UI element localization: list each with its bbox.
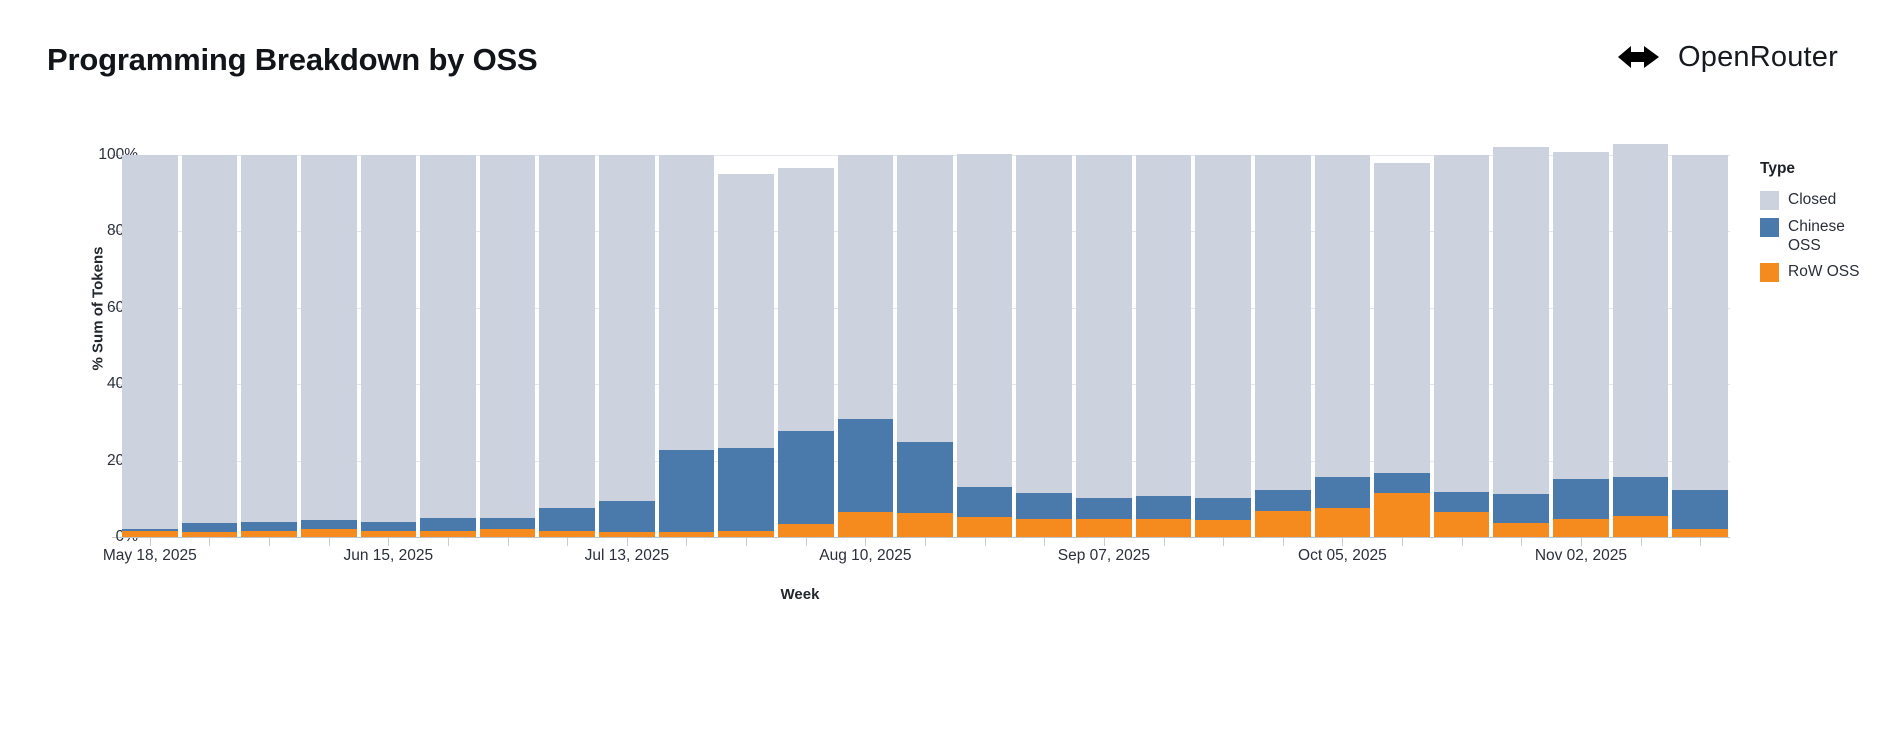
x-tick-mark <box>1581 538 1582 546</box>
bar-segment[interactable] <box>957 517 1013 537</box>
bar-segment[interactable] <box>778 431 834 524</box>
bar-segment[interactable] <box>1434 512 1490 537</box>
bar-segment[interactable] <box>1434 155 1490 492</box>
x-tick-mark <box>388 538 389 546</box>
x-tick-mark <box>985 538 986 546</box>
x-tick-mark <box>209 538 210 546</box>
bar-segment[interactable] <box>1016 519 1072 537</box>
bar-segment[interactable] <box>1374 493 1430 537</box>
bar-segment[interactable] <box>241 155 297 522</box>
bar-segment[interactable] <box>778 168 834 432</box>
bar-segment[interactable] <box>1315 477 1371 508</box>
x-tick-mark <box>1462 538 1463 546</box>
x-tick-mark <box>1044 538 1045 546</box>
bar-column[interactable] <box>480 155 536 537</box>
bar-column[interactable] <box>957 155 1013 537</box>
legend-title: Type <box>1760 160 1878 178</box>
x-tick-label: Sep 07, 2025 <box>1058 547 1150 565</box>
bar-column[interactable] <box>1434 155 1490 537</box>
legend-item-label: RoW OSS <box>1788 262 1859 281</box>
bar-column[interactable] <box>1136 155 1192 537</box>
bar-segment[interactable] <box>1672 490 1728 530</box>
bar-segment[interactable] <box>1076 498 1132 519</box>
bar-segment[interactable] <box>838 512 894 537</box>
x-tick-mark <box>1700 538 1701 546</box>
x-tick-mark <box>1342 538 1343 546</box>
bar-segment[interactable] <box>301 155 357 520</box>
x-tick-mark <box>925 538 926 546</box>
bar-segment[interactable] <box>1672 155 1728 490</box>
bar-segment[interactable] <box>1613 144 1669 477</box>
x-tick-mark <box>150 538 151 546</box>
bar-segment[interactable] <box>122 529 178 531</box>
bar-segment[interactable] <box>599 501 655 532</box>
bar-segment[interactable] <box>1136 496 1192 520</box>
x-tick-mark <box>1521 538 1522 546</box>
bar-column[interactable] <box>122 155 178 537</box>
bar-column[interactable] <box>1076 155 1132 537</box>
bar-segment[interactable] <box>1195 155 1251 498</box>
bar-column[interactable] <box>420 155 476 537</box>
bar-segment[interactable] <box>1553 152 1609 478</box>
bar-column[interactable] <box>1613 155 1669 537</box>
legend-swatch <box>1760 218 1779 237</box>
x-tick-mark <box>567 538 568 546</box>
bar-segment[interactable] <box>1613 516 1669 537</box>
bar-segment[interactable] <box>1076 519 1132 537</box>
bar-segment[interactable] <box>1195 498 1251 520</box>
x-tick-mark <box>627 538 628 546</box>
legend-item[interactable]: Closed <box>1760 190 1878 210</box>
bar-segment[interactable] <box>480 155 536 518</box>
bar-segment[interactable] <box>838 419 894 512</box>
bar-column[interactable] <box>301 155 357 537</box>
bar-column[interactable] <box>897 155 953 537</box>
bar-segment[interactable] <box>361 522 417 530</box>
x-tick-mark <box>1402 538 1403 546</box>
x-tick-mark <box>269 538 270 546</box>
x-tick-mark <box>746 538 747 546</box>
bar-segment[interactable] <box>122 155 178 529</box>
bar-segment[interactable] <box>1255 155 1311 490</box>
bar-segment[interactable] <box>718 174 774 448</box>
bar-segment[interactable] <box>1136 155 1192 496</box>
bar-column[interactable] <box>1672 155 1728 537</box>
bar-segment[interactable] <box>1255 511 1311 537</box>
bar-segment[interactable] <box>420 155 476 518</box>
bar-segment[interactable] <box>539 155 595 508</box>
bar-segment[interactable] <box>1195 520 1251 537</box>
x-tick-mark <box>806 538 807 546</box>
bar-column[interactable] <box>599 155 655 537</box>
x-tick-mark <box>1164 538 1165 546</box>
legend-swatch <box>1760 191 1779 210</box>
bar-segment[interactable] <box>182 523 238 532</box>
x-tick-mark <box>1223 538 1224 546</box>
y-axis-title: % Sum of Tokens <box>90 199 107 419</box>
bar-column[interactable] <box>718 155 774 537</box>
bar-segment[interactable] <box>1493 147 1549 494</box>
x-tick-mark <box>686 538 687 546</box>
bar-segment[interactable] <box>1016 493 1072 519</box>
bar-column[interactable] <box>1553 155 1609 537</box>
bar-segment[interactable] <box>1434 492 1490 512</box>
bar-column[interactable] <box>1255 155 1311 537</box>
bar-column[interactable] <box>182 155 238 537</box>
bar-segment[interactable] <box>241 531 297 537</box>
bar-segment[interactable] <box>1315 155 1371 477</box>
bar-segment[interactable] <box>1553 519 1609 537</box>
bar-column[interactable] <box>1374 155 1430 537</box>
bar-segment[interactable] <box>539 508 595 531</box>
bar-segment[interactable] <box>1255 490 1311 511</box>
bar-segment[interactable] <box>957 487 1013 517</box>
bar-segment[interactable] <box>599 155 655 501</box>
bar-segment[interactable] <box>718 448 774 531</box>
bar-segment[interactable] <box>420 518 476 531</box>
bar-segment[interactable] <box>897 513 953 537</box>
bar-segment[interactable] <box>1374 163 1430 473</box>
x-tick-label: Nov 02, 2025 <box>1535 547 1627 565</box>
x-tick-label: Aug 10, 2025 <box>819 547 911 565</box>
bar-column[interactable] <box>241 155 297 537</box>
bar-column[interactable] <box>361 155 417 537</box>
bar-segment[interactable] <box>659 155 715 450</box>
bar-column[interactable] <box>838 155 894 537</box>
plot-area <box>120 155 1730 537</box>
legend: Type ClosedChinese OSSRoW OSS <box>1760 160 1878 289</box>
bar-segment[interactable] <box>1374 473 1430 493</box>
bar-column[interactable] <box>1493 155 1549 537</box>
x-tick-label: May 18, 2025 <box>103 547 197 565</box>
bar-segment[interactable] <box>897 155 953 442</box>
x-tick-mark <box>865 538 866 546</box>
bar-segment[interactable] <box>241 522 297 531</box>
bar-column[interactable] <box>1016 155 1072 537</box>
bar-segment[interactable] <box>1553 479 1609 519</box>
x-tick-mark <box>1104 538 1105 546</box>
bar-segment[interactable] <box>1672 529 1728 537</box>
chart-canvas: 0%20%40%60%80%100% % Sum of Tokens May 1… <box>0 0 1880 734</box>
bar-column[interactable] <box>778 155 834 537</box>
bar-segment[interactable] <box>1613 477 1669 517</box>
bar-segment[interactable] <box>778 524 834 537</box>
x-tick-mark <box>508 538 509 546</box>
bar-segment[interactable] <box>361 155 417 522</box>
bar-column[interactable] <box>1315 155 1371 537</box>
bar-segment[interactable] <box>1493 523 1549 537</box>
bar-column[interactable] <box>539 155 595 537</box>
bar-segment[interactable] <box>1493 494 1549 523</box>
bar-segment[interactable] <box>897 442 953 513</box>
x-tick-mark <box>329 538 330 546</box>
x-tick-mark <box>448 538 449 546</box>
bar-segment[interactable] <box>659 450 715 533</box>
bar-segment[interactable] <box>1136 519 1192 537</box>
legend-item[interactable]: Chinese OSS <box>1760 217 1878 255</box>
bar-column[interactable] <box>659 155 715 537</box>
legend-item-label: Chinese OSS <box>1788 217 1878 255</box>
bar-segment[interactable] <box>838 155 894 419</box>
x-tick-mark <box>1641 538 1642 546</box>
bar-segment[interactable] <box>480 529 536 537</box>
legend-item[interactable]: RoW OSS <box>1760 262 1878 282</box>
x-tick-label: Oct 05, 2025 <box>1298 547 1387 565</box>
bar-segment[interactable] <box>1076 155 1132 498</box>
x-tick-label: Jun 15, 2025 <box>344 547 434 565</box>
legend-items: ClosedChinese OSSRoW OSS <box>1760 190 1878 282</box>
legend-item-label: Closed <box>1788 190 1836 209</box>
bar-segment[interactable] <box>480 518 536 528</box>
legend-swatch <box>1760 263 1779 282</box>
x-axis-title: Week <box>0 586 1600 603</box>
bar-segment[interactable] <box>1016 155 1072 493</box>
bar-segment[interactable] <box>182 155 238 523</box>
bar-segment[interactable] <box>301 529 357 537</box>
bar-segment[interactable] <box>957 154 1013 487</box>
bar-segment[interactable] <box>301 520 357 530</box>
x-tick-mark <box>1283 538 1284 546</box>
bar-segment[interactable] <box>1315 508 1371 537</box>
x-tick-label: Jul 13, 2025 <box>585 547 669 565</box>
bar-column[interactable] <box>1195 155 1251 537</box>
